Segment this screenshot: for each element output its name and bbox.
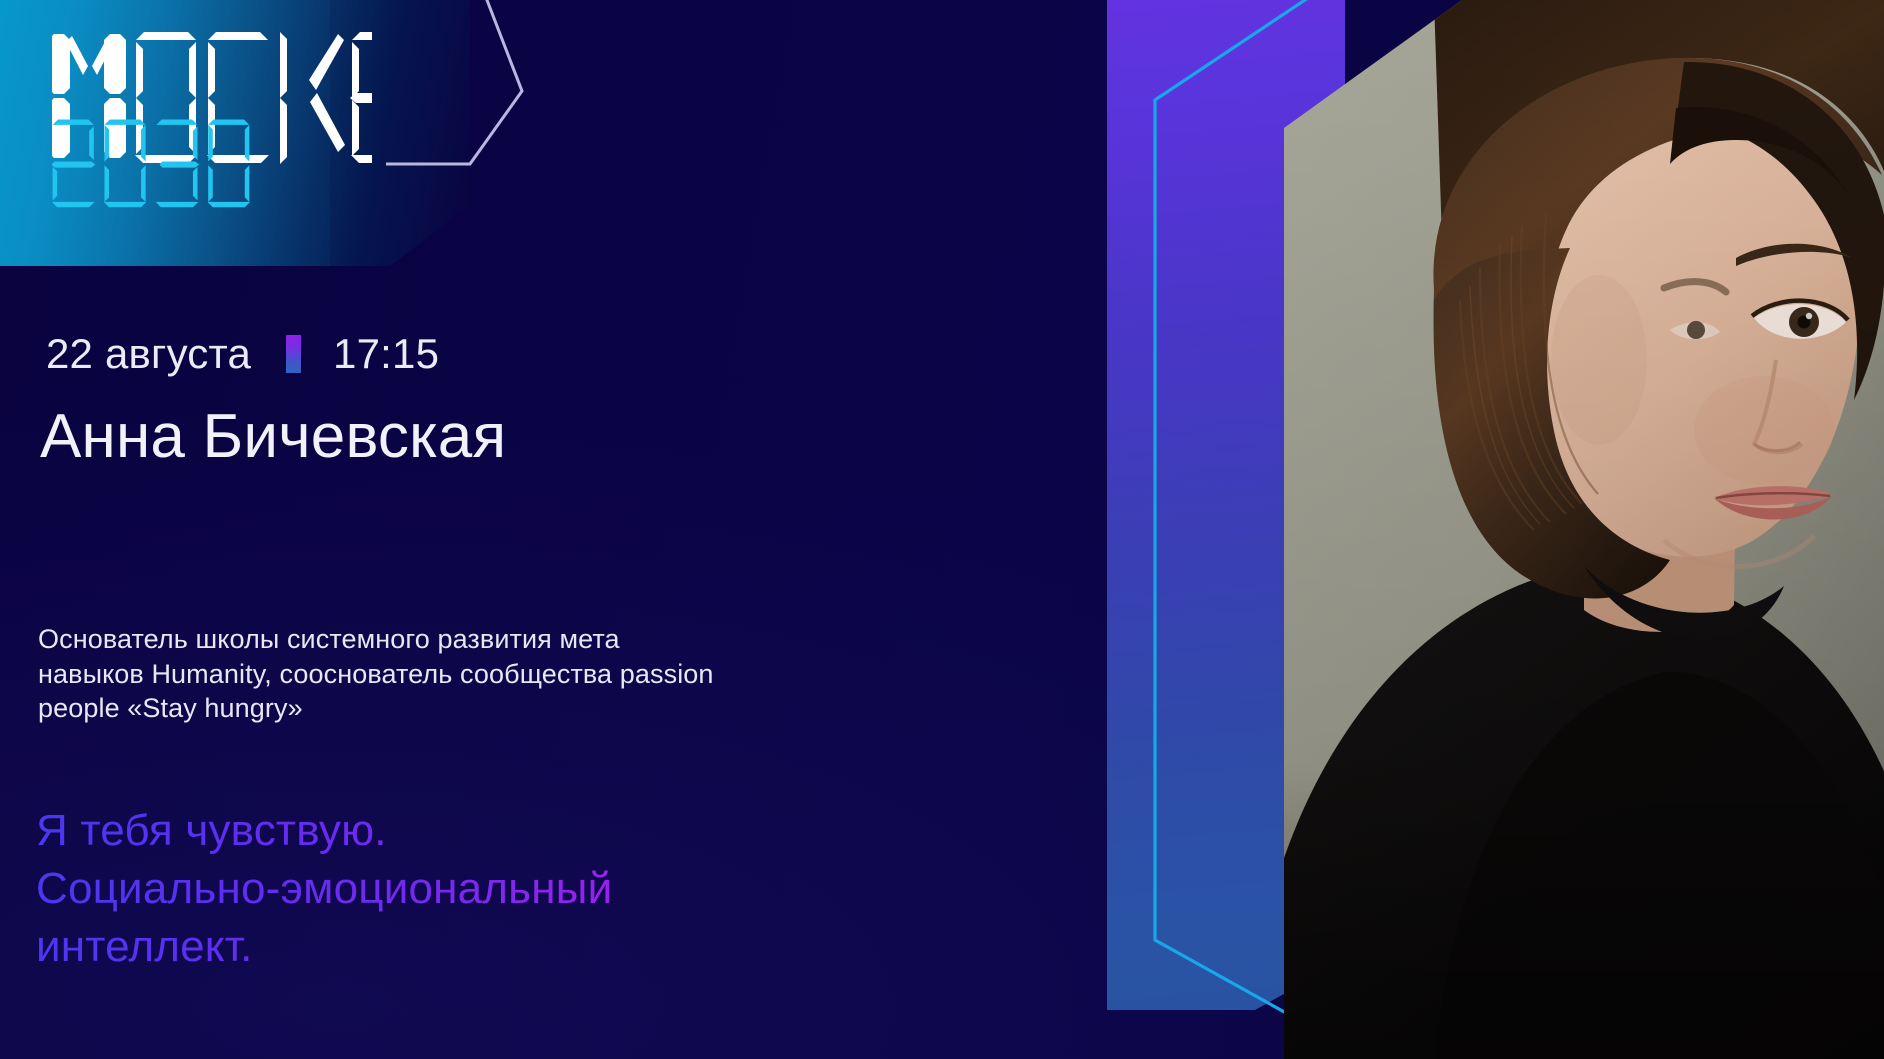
speaker-role: Основатель школы системного развития мет… bbox=[38, 622, 878, 726]
event-datetime: 22 августа 17:15 bbox=[46, 326, 439, 382]
speaker-role-line-3: people «Stay hungry» bbox=[38, 693, 303, 723]
talk-title-line-2: Социально-эмоциональный bbox=[36, 860, 916, 918]
talk-title-line-3: интеллект. bbox=[36, 918, 916, 976]
speaker-role-line-1: Основатель школы системного развития мет… bbox=[38, 624, 620, 654]
vertical-bar-divider-icon bbox=[286, 335, 301, 373]
event-time: 17:15 bbox=[333, 333, 439, 375]
talk-title: Я тебя чувствую. Социально-эмоциональный… bbox=[36, 802, 916, 976]
speaker-portrait bbox=[1284, 0, 1884, 1059]
event-date: 22 августа bbox=[46, 333, 251, 375]
talk-title-line-1: Я тебя чувствую. bbox=[36, 802, 916, 860]
speaker-role-line-2: навыков Humanity, сооснователь сообществ… bbox=[38, 659, 714, 689]
speaker-name: Анна Бичевская bbox=[40, 404, 506, 471]
presentation-slide: 22 августа 17:15 Анна Бичевская Основате… bbox=[0, 0, 1884, 1059]
slide-text-content: 22 августа 17:15 Анна Бичевская Основате… bbox=[0, 0, 1000, 1059]
